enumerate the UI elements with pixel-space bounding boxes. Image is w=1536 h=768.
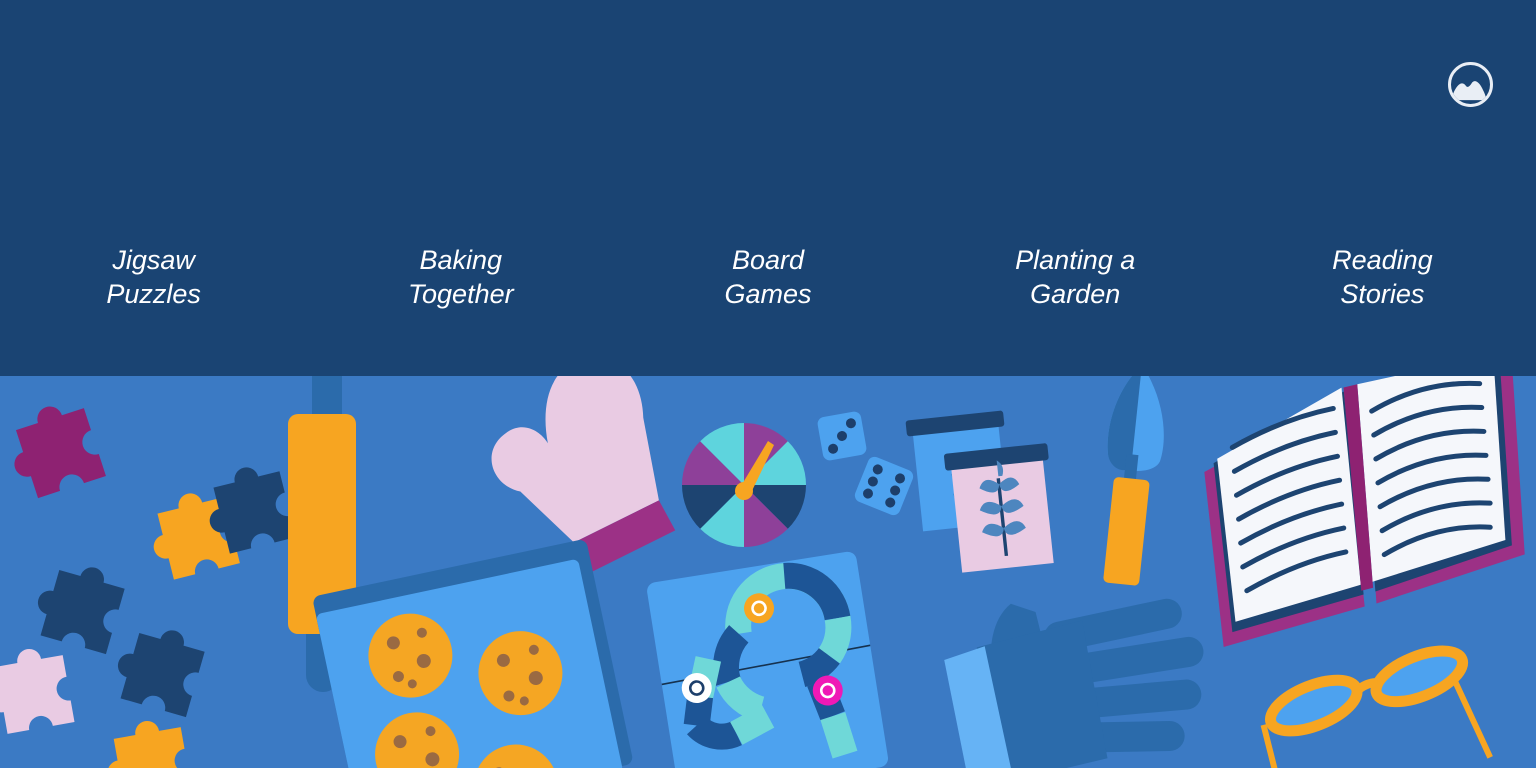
puzzle-piece-navy-low xyxy=(109,618,208,717)
reading-glasses xyxy=(1236,640,1536,768)
garden-glove xyxy=(930,586,1220,768)
mountain-icon xyxy=(1451,65,1490,104)
activity-label-board-games: Board Games xyxy=(614,243,921,312)
dice-group xyxy=(812,408,922,518)
header-band xyxy=(0,0,1536,376)
game-board xyxy=(648,556,908,768)
open-book xyxy=(1196,362,1536,652)
activity-label-reading-stories: Reading Stories xyxy=(1229,243,1536,312)
activity-label-jigsaw-puzzles: Jigsaw Puzzles xyxy=(0,243,307,312)
garden-trowel xyxy=(1090,364,1200,594)
trowel-handle xyxy=(1103,477,1150,586)
glasses-lens-right xyxy=(1369,641,1469,713)
spinner-wheel xyxy=(679,420,809,550)
seed-packets xyxy=(912,400,1082,580)
mountain-circle-logo[interactable] xyxy=(1448,62,1493,107)
infographic-canvas: Activities That Can Teach Delayed Gratif… xyxy=(0,0,1536,768)
activity-labels-row: Jigsaw Puzzles Baking Together Board Gam… xyxy=(0,243,1536,312)
glasses-lens-left xyxy=(1264,670,1364,742)
puzzle-piece-navy-mid xyxy=(29,555,128,654)
puzzle-piece-orange-bottom xyxy=(100,715,193,768)
seed-packet-pink xyxy=(944,443,1060,573)
cookie-tray xyxy=(312,556,642,768)
die-six xyxy=(853,455,915,517)
activity-label-planting-a-garden: Planting a Garden xyxy=(922,243,1229,312)
puzzle-piece-pink xyxy=(0,643,75,736)
puzzle-piece-magenta xyxy=(0,396,106,502)
puzzle-pieces-illustration xyxy=(0,400,300,768)
die-three xyxy=(817,411,868,462)
activity-label-baking-together: Baking Together xyxy=(307,243,614,312)
